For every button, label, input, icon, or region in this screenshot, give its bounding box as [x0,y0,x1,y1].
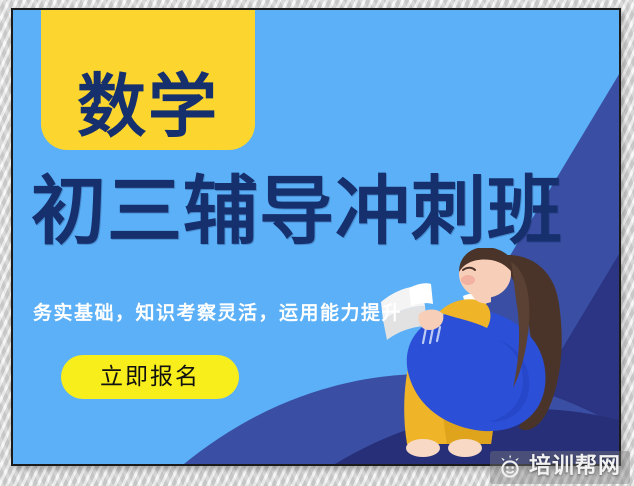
watermark-text: 培训帮网 [529,456,621,478]
enroll-now-label: 立即报名 [100,366,200,389]
page-title: 初三辅导冲刺班 [31,174,563,249]
watermark: 培训帮网 [490,451,630,484]
subject-badge-label: 数学 [77,73,219,142]
poster-canvas: 数学 [13,10,619,464]
subject-badge: 数学 [41,10,255,150]
girl-reading-illustration [379,248,599,464]
enroll-now-button[interactable]: 立即报名 [61,355,239,399]
course-poster: 数学 [11,8,621,466]
sun-smiley-icon [498,455,522,479]
subtitle-text: 务实基础，知识考察灵活，运用能力提升 [33,304,402,323]
